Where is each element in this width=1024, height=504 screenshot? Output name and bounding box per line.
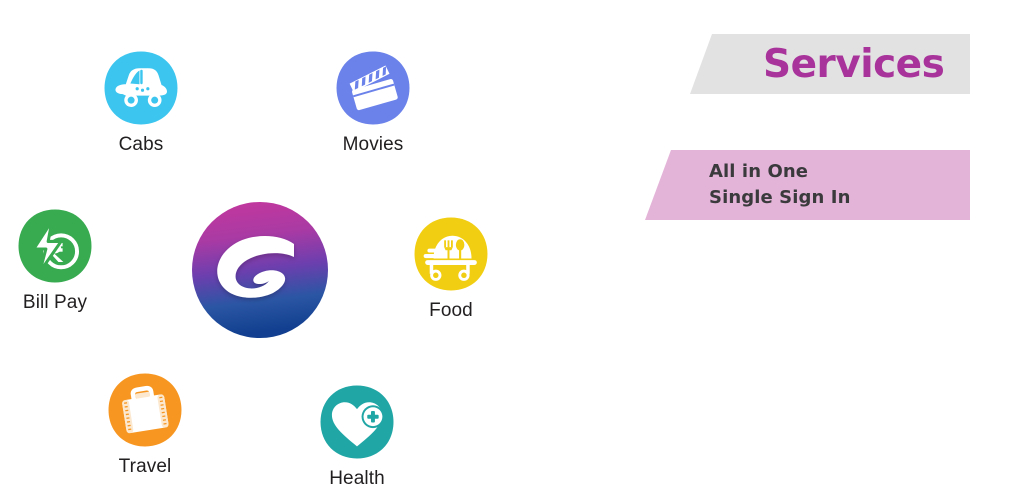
service-tile-bill-pay[interactable]: Bill Pay <box>0 208 110 314</box>
service-tile-label: Cabs <box>119 135 164 156</box>
service-tile-health[interactable]: Health <box>302 384 412 490</box>
g-swoosh-logo <box>190 200 330 340</box>
clapperboard-icon <box>335 50 411 126</box>
heart-plus-icon <box>319 384 395 460</box>
brand-logo <box>190 200 330 340</box>
services-banner-title: Services <box>763 45 944 84</box>
car-icon <box>103 50 179 126</box>
service-tile-label: Travel <box>119 457 172 478</box>
rupee-bolt-icon <box>17 208 93 284</box>
service-tile-food[interactable]: Food <box>396 216 506 322</box>
service-tile-label: Bill Pay <box>23 293 87 314</box>
single-sign-in-line-1: All in One <box>709 159 851 185</box>
service-tile-label: Movies <box>343 135 404 156</box>
service-tile-travel[interactable]: Travel <box>90 372 200 478</box>
services-banner: Services <box>690 34 970 94</box>
suitcase-icon <box>107 372 183 448</box>
service-tile-label: Health <box>329 469 385 490</box>
service-tile-movies[interactable]: Movies <box>318 50 428 156</box>
single-sign-in-line-2: Single Sign In <box>709 185 851 211</box>
service-tile-cabs[interactable]: Cabs <box>86 50 196 156</box>
food-trolley-icon <box>413 216 489 292</box>
single-sign-in-banner-text: All in One Single Sign In <box>709 159 851 211</box>
single-sign-in-banner: All in One Single Sign In <box>645 150 970 220</box>
service-tile-label: Food <box>429 301 473 322</box>
